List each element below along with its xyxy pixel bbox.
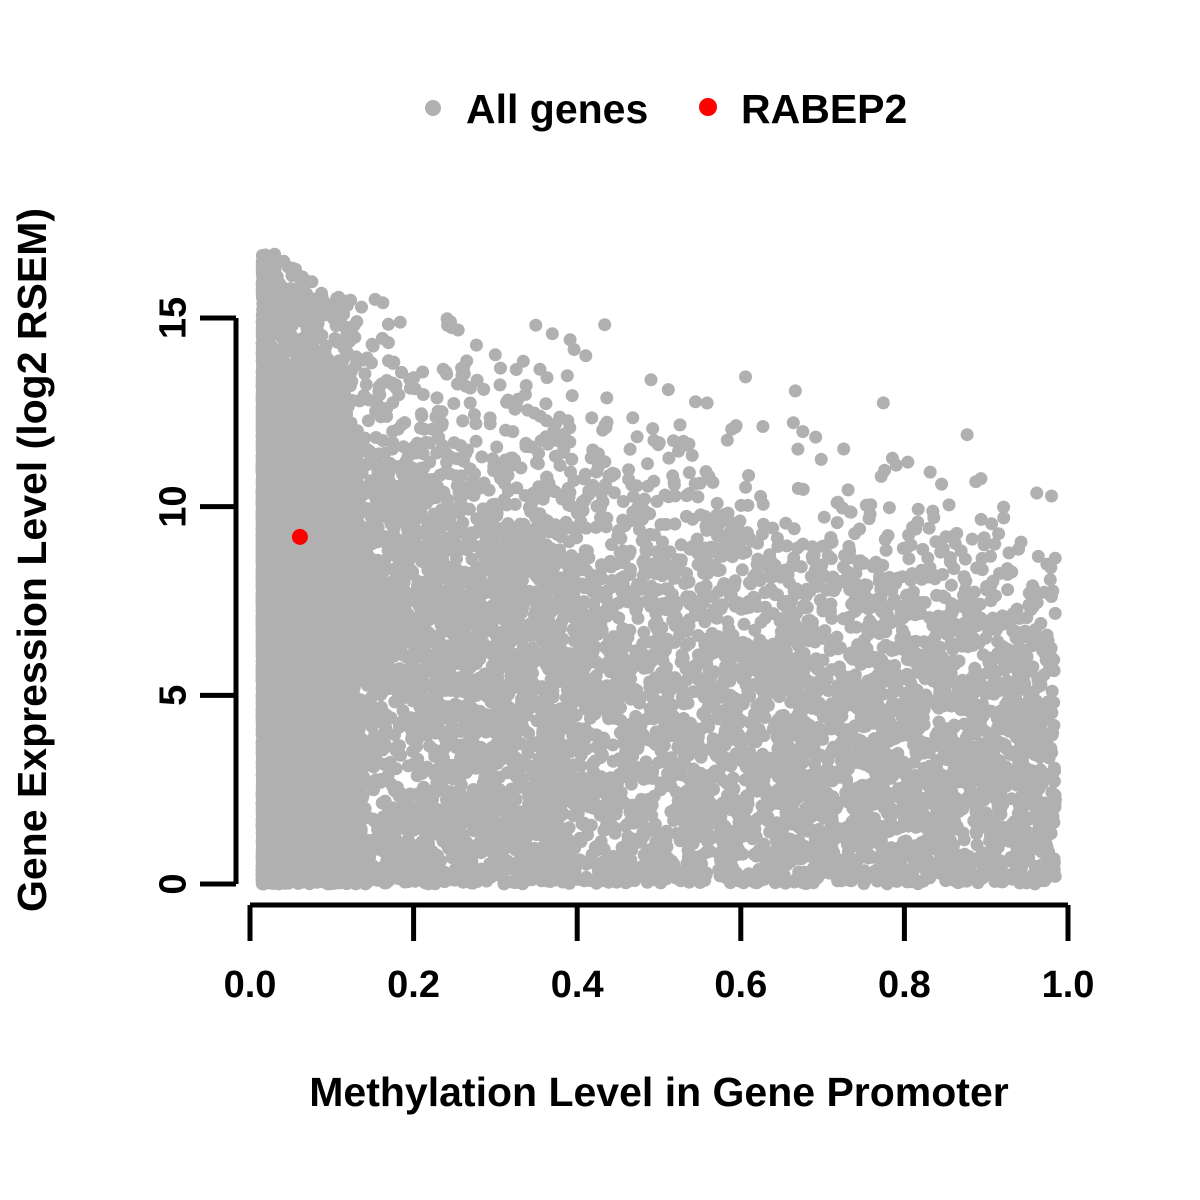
y-axis-title: Gene Expression Level (log2 RSEM) — [9, 208, 55, 912]
x-tick-label: 0.8 — [878, 964, 931, 1006]
x-tick-label: 0.4 — [551, 964, 604, 1006]
x-axis-title: Methylation Level in Gene Promoter — [309, 1069, 1008, 1115]
x-axis: 0.00.20.40.60.81.0 — [224, 905, 1095, 1006]
legend-label-all-genes: All genes — [466, 86, 648, 132]
y-tick-label: 10 — [153, 486, 195, 528]
x-tick-label: 0.0 — [224, 964, 277, 1006]
scatter-point-rabep2 — [292, 529, 308, 545]
x-tick-label: 0.6 — [714, 964, 767, 1006]
scatter-points-all-genes — [256, 248, 1062, 891]
y-axis: 051015 — [153, 297, 236, 895]
y-tick-label: 15 — [153, 297, 195, 339]
y-tick-label: 5 — [153, 685, 195, 706]
scatter-plot-figure: 051015 0.00.20.40.60.81.0 Methylation Le… — [0, 0, 1200, 1200]
y-axis-tick-labels: 051015 — [153, 297, 195, 895]
legend-label-rabep2: RABEP2 — [741, 86, 907, 132]
x-axis-ticks — [250, 905, 1068, 941]
y-axis-ticks — [200, 318, 236, 884]
data-point-rabep2 — [292, 529, 308, 545]
legend-marker-all-genes — [425, 100, 441, 116]
y-tick-label: 0 — [153, 873, 195, 894]
plot-canvas: 051015 0.00.20.40.60.81.0 Methylation Le… — [0, 0, 1200, 1200]
x-tick-label: 0.2 — [387, 964, 440, 1006]
legend: All genes RABEP2 — [425, 86, 907, 132]
x-tick-label: 1.0 — [1042, 964, 1095, 1006]
legend-marker-rabep2 — [699, 98, 717, 116]
x-axis-tick-labels: 0.00.20.40.60.81.0 — [224, 964, 1095, 1006]
